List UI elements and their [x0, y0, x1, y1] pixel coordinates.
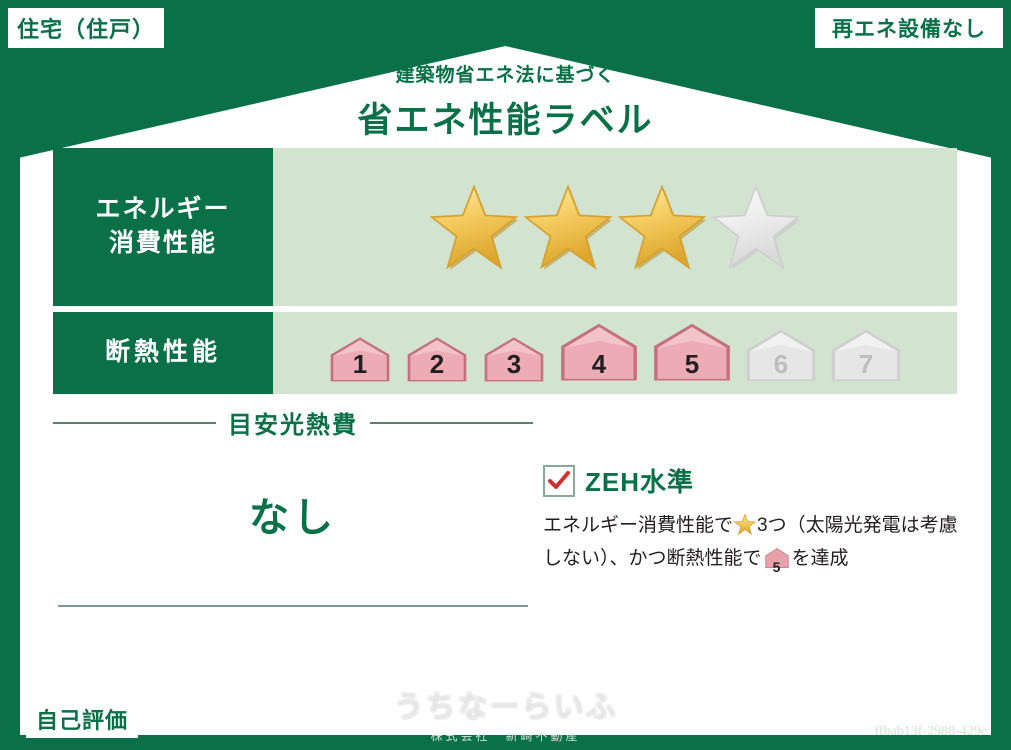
evaluation-id: ffbab13f-2988-429c	[779, 724, 987, 740]
energy-star-rating	[273, 148, 957, 306]
renewable-energy-tab: 再エネ設備なし	[815, 8, 1003, 48]
heading-rule-right	[370, 422, 533, 424]
insulation-grade-house-6: 6	[741, 328, 821, 384]
zeh-description-part4: を達成	[792, 548, 849, 569]
star-filled-icon	[523, 184, 613, 270]
property-name: ハートフルタウン那覇市識名1丁目956番2（沖縄）1号棟	[148, 706, 629, 733]
energy-performance-label-line1: エネルギー	[95, 193, 230, 227]
star-filled-icon	[617, 184, 707, 270]
evaluation-type-badge: 自己評価	[26, 700, 138, 738]
insulation-grade-number: 1	[324, 349, 396, 380]
star-empty-icon	[711, 184, 801, 270]
heading-rule-left	[53, 422, 216, 424]
insulation-grade-number: 3	[478, 349, 550, 380]
energy-performance-row: エネルギー 消費性能	[53, 148, 957, 306]
zeh-heading: ZEH水準	[543, 462, 963, 499]
insulation-grade-number: 4	[555, 349, 643, 380]
insulation-grade-house-1: 1	[324, 336, 396, 384]
insulation-grade-scale: 1234567	[273, 312, 957, 394]
insulation-grade-number: 7	[826, 349, 906, 380]
label-footer: 自己評価 ハートフルタウン那覇市識名1丁目956番2（沖縄）1号棟 評価日 20…	[0, 688, 1011, 750]
energy-performance-label: 住宅（住戸） 再エネ設備なし 建築物省エネ法に基づく 省エネ性能ラベル エネルギ…	[0, 0, 1011, 750]
insulation-grade-number: 2	[401, 349, 473, 380]
zeh-title: ZEH水準	[585, 462, 694, 499]
building-type-tab-label: 住宅（住戸）	[17, 12, 155, 44]
page-title: 省エネ性能ラベル	[0, 92, 1011, 143]
utility-cost-bottom-rule	[58, 605, 528, 607]
inline-house-badge-number: 5	[764, 557, 790, 579]
zeh-description-part2: 3つ（太陽光発電	[757, 515, 901, 536]
insulation-grade-house-7: 7	[826, 328, 906, 384]
zeh-description: エネルギー消費性能で3つ（太陽光発電は考慮しない）、かつ断熱性能で5を達成	[543, 511, 963, 579]
zeh-standard-block: ZEH水準 エネルギー消費性能で3つ（太陽光発電は考慮しない）、かつ断熱性能で5…	[543, 462, 963, 579]
zeh-checkbox	[543, 465, 575, 497]
insulation-grade-number: 5	[648, 349, 736, 380]
insulation-performance-label: 断熱性能	[53, 312, 273, 394]
inline-star-icon	[734, 519, 756, 540]
star-filled-icon	[429, 184, 519, 270]
inline-house-badge-icon: 5	[764, 547, 790, 578]
insulation-grade-number: 6	[741, 349, 821, 380]
energy-performance-label: エネルギー 消費性能	[53, 148, 273, 306]
insulation-grade-house-4: 4	[555, 322, 643, 384]
zeh-description-part1: エネルギー消費性能で	[543, 515, 733, 536]
evaluation-date: 評価日 2025年3月4日	[779, 697, 987, 720]
energy-performance-label-line2: 消費性能	[109, 227, 217, 261]
building-type-tab: 住宅（住戸）	[8, 8, 164, 48]
renewable-energy-tab-label: 再エネ設備なし	[832, 13, 986, 43]
insulation-performance-row: 断熱性能 1234567	[53, 312, 957, 394]
utility-cost-value: なし	[53, 485, 533, 543]
insulation-grade-house-3: 3	[478, 336, 550, 384]
insulation-grade-house-5: 5	[648, 322, 736, 384]
label-title-block: 建築物省エネ法に基づく 省エネ性能ラベル	[0, 60, 1011, 143]
utility-cost-heading-label: 目安光熱費	[228, 405, 358, 440]
title-subtitle: 建築物省エネ法に基づく	[0, 60, 1011, 87]
insulation-grade-house-2: 2	[401, 336, 473, 384]
evaluation-meta: 評価日 2025年3月4日 ffbab13f-2988-429c	[779, 692, 987, 740]
utility-cost-heading: 目安光熱費	[53, 405, 533, 440]
